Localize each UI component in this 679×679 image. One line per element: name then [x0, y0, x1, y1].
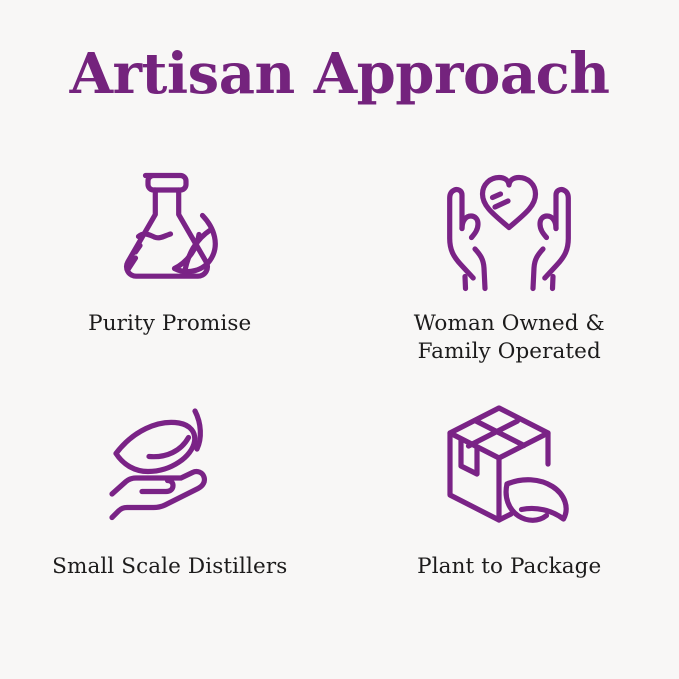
flask-leaf-icon — [102, 150, 238, 300]
feature-item-woman-owned: Woman Owned & Family Operated — [340, 150, 679, 395]
feature-label: Plant to Package — [417, 553, 601, 581]
box-leaf-icon — [439, 395, 579, 535]
feature-item-purity-promise: Purity Promise — [0, 150, 340, 395]
artisan-approach-panel: Artisan Approach — [0, 0, 679, 679]
feature-item-plant-to-package: Plant to Package — [340, 395, 679, 640]
feature-label: Woman Owned & Family Operated — [414, 310, 605, 365]
feature-grid: Purity Promise — [0, 150, 679, 640]
hands-heart-icon — [429, 150, 589, 300]
feature-item-small-scale-distillers: Small Scale Distillers — [0, 395, 340, 640]
feature-label: Purity Promise — [88, 310, 251, 338]
leaf-in-hand-icon — [107, 395, 232, 535]
page-title: Artisan Approach — [0, 44, 679, 106]
feature-label: Small Scale Distillers — [52, 553, 287, 581]
